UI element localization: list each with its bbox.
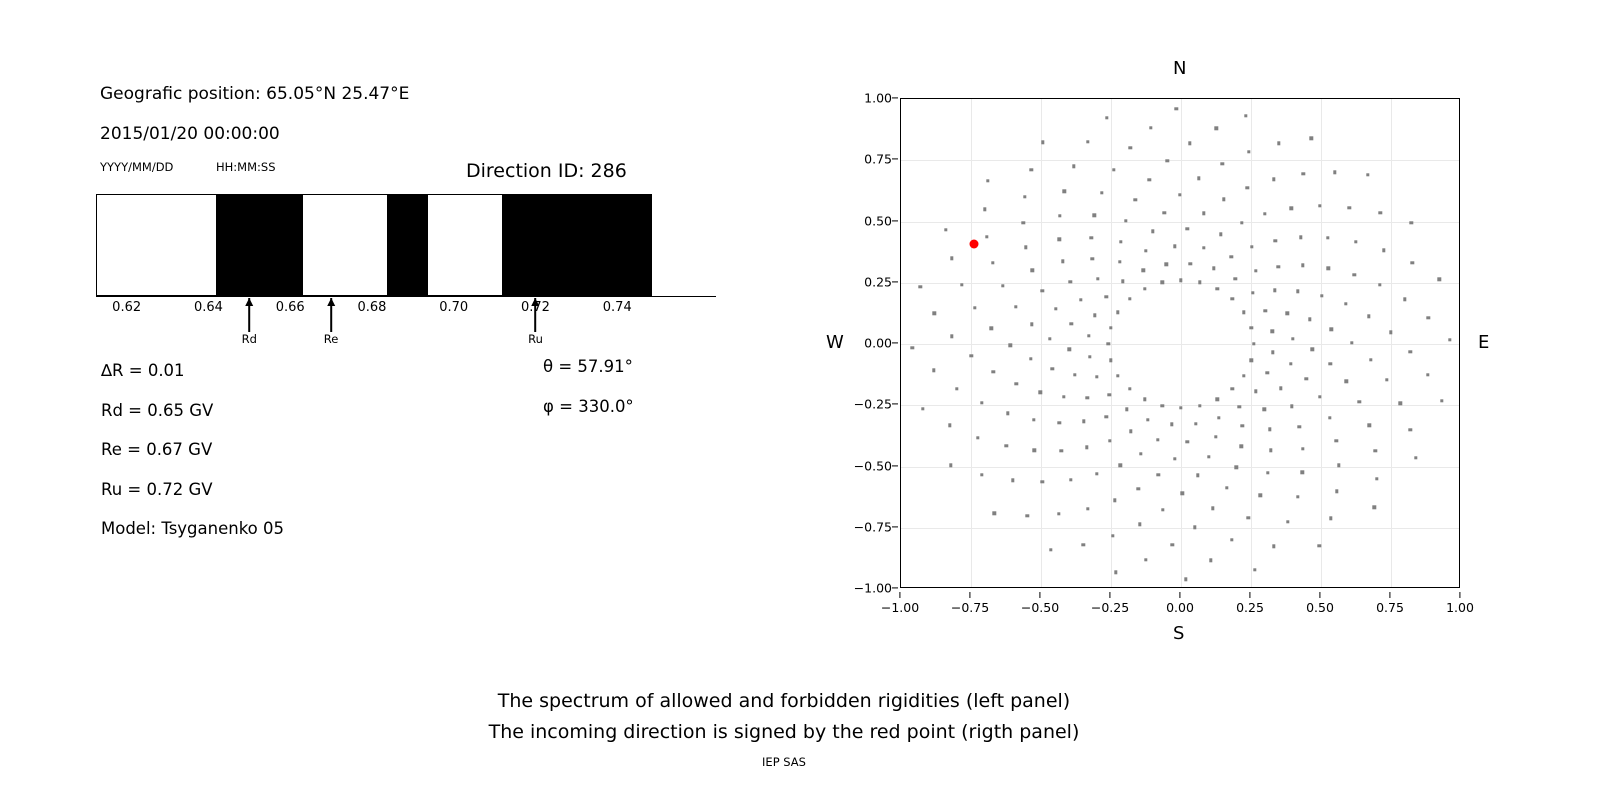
direction-dot (1091, 257, 1094, 260)
direction-dot (1049, 548, 1052, 551)
sky-map-panel: −1.00−0.75−0.50−0.250.000.250.500.751.00… (0, 0, 1600, 660)
direction-dot (1111, 534, 1114, 537)
direction-dot (1193, 526, 1196, 529)
direction-dot (932, 368, 935, 371)
direction-dot (1251, 291, 1254, 294)
direction-dot (1233, 277, 1236, 280)
gridline-vertical (1181, 99, 1182, 587)
direction-dot (1057, 238, 1060, 241)
gridline-vertical (1041, 99, 1042, 587)
sky-map-y-tick-label: −0.75 (854, 519, 892, 534)
direction-dot (1301, 264, 1304, 267)
direction-dot (1379, 211, 1382, 214)
direction-dot (1272, 545, 1275, 548)
direction-dot (1250, 245, 1253, 248)
direction-dot (1189, 262, 1192, 265)
direction-dot (911, 346, 914, 349)
direction-dot (1250, 326, 1253, 329)
direction-dot (1333, 171, 1336, 174)
direction-dot (1160, 281, 1163, 284)
sky-map-y-tick-mark (892, 159, 898, 160)
direction-dot (1279, 386, 1282, 389)
direction-dot (1157, 473, 1160, 476)
direction-dot (1119, 464, 1122, 467)
direction-dot (1252, 342, 1255, 345)
direction-dot (1160, 404, 1163, 407)
sky-map-y-tick-mark (892, 97, 898, 98)
gridline-horizontal (901, 283, 1459, 284)
direction-dot (1161, 508, 1164, 511)
direction-dot (1290, 405, 1293, 408)
sky-map-y-tick-label: 0.25 (864, 274, 892, 289)
direction-dot (1299, 236, 1302, 239)
direction-dot (1142, 268, 1145, 271)
direction-dot (1240, 221, 1243, 224)
direction-dot (1109, 326, 1112, 329)
direction-dot (1230, 538, 1233, 541)
direction-dot (1070, 322, 1073, 325)
direction-dot (1448, 338, 1451, 341)
direction-dot (1328, 416, 1331, 419)
direction-dot (1170, 543, 1173, 546)
sky-map-x-tick-label: −0.25 (1091, 600, 1129, 615)
direction-dot (1156, 438, 1159, 441)
direction-dot (1023, 195, 1026, 198)
direction-dot (1119, 240, 1122, 243)
direction-dot (1041, 289, 1044, 292)
direction-dot (1286, 520, 1289, 523)
direction-dot (1410, 221, 1413, 224)
direction-dot (949, 463, 952, 466)
direction-dot (1271, 330, 1274, 333)
direction-dot (1367, 315, 1370, 318)
direction-dot (1026, 514, 1029, 517)
direction-dot (1112, 168, 1115, 171)
gridline-vertical (971, 99, 972, 587)
direction-dot (1216, 287, 1219, 290)
direction-dot (1162, 211, 1165, 214)
direction-dot (1272, 178, 1275, 181)
sky-map-y-tick-label: 1.00 (864, 91, 892, 106)
direction-dot (1178, 193, 1181, 196)
direction-dot (1296, 495, 1299, 498)
direction-dot (1173, 244, 1176, 247)
direction-dot (921, 407, 924, 410)
direction-dot (1015, 382, 1018, 385)
gridline-horizontal (901, 160, 1459, 161)
direction-dot (948, 424, 951, 427)
direction-dot (1382, 249, 1385, 252)
direction-dot (1231, 387, 1234, 390)
direction-dot (1374, 449, 1377, 452)
direction-dot (1263, 408, 1266, 411)
direction-dot (1105, 116, 1108, 119)
sky-map-x-tick-mark (1459, 592, 1460, 598)
direction-dot (990, 327, 993, 330)
compass-label-east: E (1478, 332, 1489, 353)
sky-map-y-tick-label: −1.00 (854, 581, 892, 596)
direction-dot (1426, 373, 1429, 376)
direction-dot (1301, 471, 1304, 474)
direction-dot (1273, 289, 1276, 292)
direction-dot (1114, 571, 1117, 574)
direction-dot (1001, 284, 1004, 287)
direction-dot (1335, 490, 1338, 493)
direction-dot (955, 387, 958, 390)
sky-map-x-tick-mark (1319, 592, 1320, 598)
sky-map-y-tick-label: −0.25 (854, 397, 892, 412)
sky-map-x-tick-label: −0.50 (1021, 600, 1059, 615)
sky-map-y-tick-mark (892, 281, 898, 282)
direction-dot (1305, 377, 1308, 380)
direction-dot (1268, 427, 1271, 430)
direction-dot (1196, 474, 1199, 477)
sky-map-x-tick-mark (969, 592, 970, 598)
gridline-horizontal (901, 528, 1459, 529)
direction-dot (1184, 577, 1187, 580)
direction-dot (1198, 281, 1201, 284)
direction-dot (1230, 255, 1233, 258)
direction-dot (1290, 206, 1293, 209)
direction-dot (1369, 358, 1372, 361)
direction-dot (1286, 312, 1289, 315)
direction-dot (1186, 440, 1189, 443)
direction-dot (1108, 393, 1111, 396)
direction-dot (1087, 334, 1090, 337)
gridline-horizontal (901, 344, 1459, 345)
gridline-horizontal (901, 222, 1459, 223)
direction-dot (1214, 126, 1217, 129)
direction-dot (1211, 507, 1214, 510)
direction-dot (1060, 449, 1063, 452)
direction-dot (1067, 348, 1070, 351)
direction-dot (1082, 420, 1085, 423)
direction-dot (1409, 350, 1412, 353)
direction-dot (1220, 162, 1223, 165)
direction-dot (1082, 543, 1085, 546)
direction-dot (1095, 375, 1098, 378)
direction-dot (1170, 423, 1173, 426)
direction-dot (1326, 236, 1329, 239)
sky-map-x-tick-mark (1039, 592, 1040, 598)
direction-dot (1188, 142, 1191, 145)
direction-dot (1271, 351, 1274, 354)
direction-dot (1352, 273, 1355, 276)
direction-dot (1334, 439, 1337, 442)
sky-map-x-tick-mark (899, 592, 900, 598)
sky-map-y-tick-label: −0.50 (854, 458, 892, 473)
direction-dot (1128, 297, 1131, 300)
direction-dot (1254, 269, 1257, 272)
sky-map-y-tick-mark (892, 587, 898, 588)
direction-dot (1264, 309, 1267, 312)
direction-dot (1222, 198, 1225, 201)
sky-map-x-tick-label: 0.75 (1376, 600, 1404, 615)
direction-dot (1006, 412, 1009, 415)
direction-dot (1128, 387, 1131, 390)
direction-dot (1086, 140, 1089, 143)
direction-dot (1440, 399, 1443, 402)
direction-dot (1139, 452, 1142, 455)
direction-dot (1069, 280, 1072, 283)
direction-dot (1151, 230, 1154, 233)
direction-dot (980, 473, 983, 476)
direction-dot (1058, 214, 1061, 217)
direction-dot (1079, 298, 1082, 301)
direction-dot (993, 511, 996, 514)
direction-dot (1005, 444, 1008, 447)
direction-dot (992, 370, 995, 373)
direction-dot (1022, 221, 1025, 224)
direction-dot (1242, 310, 1245, 313)
selected-direction-point (969, 239, 978, 248)
sky-map-x-tick-label: −0.75 (951, 600, 989, 615)
direction-dot (1308, 318, 1311, 321)
direction-dot (1029, 357, 1032, 360)
direction-dot (1269, 449, 1272, 452)
direction-dot (1194, 422, 1197, 425)
direction-dot (1427, 316, 1430, 319)
direction-dot (1238, 405, 1241, 408)
direction-dot (1266, 371, 1269, 374)
sky-map-y-tick-label: 0.75 (864, 152, 892, 167)
direction-dot (1057, 512, 1060, 515)
direction-dot (1125, 408, 1128, 411)
direction-dot (1311, 348, 1314, 351)
direction-dot (1296, 289, 1299, 292)
direction-dot (1320, 294, 1323, 297)
direction-dot (1041, 480, 1044, 483)
sky-map-y-tick-label: 0.00 (864, 336, 892, 351)
sky-map-x-tick-label: 0.50 (1306, 600, 1334, 615)
sky-map-y-tick-label: 0.50 (864, 213, 892, 228)
gridline-vertical (1321, 99, 1322, 587)
direction-dot (1041, 141, 1044, 144)
direction-dot (1198, 404, 1201, 407)
direction-dot (1219, 233, 1222, 236)
direction-dot (1095, 472, 1098, 475)
direction-dot (1345, 380, 1348, 383)
direction-dot (1212, 267, 1215, 270)
direction-dot (1179, 279, 1182, 282)
gridline-vertical (1111, 99, 1112, 587)
direction-dot (1318, 395, 1321, 398)
direction-dot (1146, 418, 1149, 421)
direction-dot (1069, 478, 1072, 481)
direction-dot (1358, 400, 1361, 403)
direction-dot (1073, 373, 1076, 376)
direction-dot (1090, 236, 1093, 239)
direction-dot (1438, 277, 1441, 280)
direction-dot (1143, 287, 1146, 290)
direction-dot (1297, 425, 1300, 428)
sky-map-x-tick-label: −1.00 (881, 600, 919, 615)
direction-dot (991, 261, 994, 264)
figure-caption: The spectrum of allowed and forbidden ri… (0, 686, 1568, 748)
direction-dot (1217, 416, 1220, 419)
direction-dot (1063, 189, 1066, 192)
direction-dot (918, 285, 921, 288)
direction-dot (1329, 517, 1332, 520)
sky-map-y-tick-mark (892, 465, 898, 466)
direction-dot (933, 312, 936, 315)
direction-dot (1113, 498, 1116, 501)
direction-dot (1048, 337, 1051, 340)
direction-dot (1350, 341, 1353, 344)
sky-map-x-tick-mark (1389, 592, 1390, 598)
direction-dot (1247, 516, 1250, 519)
direction-dot (1329, 362, 1332, 365)
sky-map-x-tick-mark (1109, 592, 1110, 598)
direction-dot (1108, 439, 1111, 442)
direction-dot (1175, 107, 1178, 110)
direction-dot (1030, 168, 1033, 171)
direction-dot (1241, 424, 1244, 427)
direction-dot (1181, 492, 1184, 495)
sky-map-y-tick-mark (892, 404, 898, 405)
direction-dot (1185, 227, 1188, 230)
direction-dot (1289, 362, 1292, 365)
direction-dot (1144, 249, 1147, 252)
direction-dot (1093, 214, 1096, 217)
direction-dot (1062, 395, 1065, 398)
direction-dot (1318, 204, 1321, 207)
direction-dot (1039, 391, 1042, 394)
direction-dot (973, 306, 976, 309)
direction-dot (976, 436, 979, 439)
sky-map-y-tick-mark (892, 342, 898, 343)
direction-dot (1216, 397, 1219, 400)
direction-dot (1414, 456, 1417, 459)
direction-dot (1301, 447, 1304, 450)
direction-dot (980, 401, 983, 404)
direction-dot (1030, 323, 1033, 326)
direction-dot (1104, 295, 1107, 298)
direction-dot (1100, 191, 1103, 194)
direction-dot (1011, 479, 1014, 482)
direction-dot (1344, 302, 1347, 305)
direction-dot (1399, 402, 1402, 405)
direction-dot (1051, 367, 1054, 370)
direction-dot (1024, 246, 1027, 249)
direction-dot (1134, 198, 1137, 201)
direction-dot (1085, 446, 1088, 449)
direction-dot (1411, 261, 1414, 264)
sky-map-y-tick-mark (892, 526, 898, 527)
direction-dot (1088, 355, 1091, 358)
direction-dot (1093, 313, 1096, 316)
direction-dot (1368, 424, 1371, 427)
sky-map-x-tick-mark (1249, 592, 1250, 598)
direction-dot (1129, 430, 1132, 433)
direction-dot (1247, 150, 1250, 153)
direction-dot (1105, 415, 1108, 418)
compass-label-west: W (826, 332, 844, 353)
direction-dot (1109, 359, 1112, 362)
direction-dot (1207, 455, 1210, 458)
direction-dot (1277, 265, 1280, 268)
direction-dot (1389, 330, 1392, 333)
direction-dot (950, 257, 953, 260)
direction-dot (1106, 342, 1109, 345)
direction-dot (1096, 277, 1099, 280)
direction-dot (1378, 283, 1381, 286)
direction-dot (1348, 206, 1351, 209)
direction-dot (1225, 486, 1228, 489)
direction-dot (1137, 487, 1140, 490)
direction-dot (983, 208, 986, 211)
sky-map-y-tick-mark (892, 220, 898, 221)
direction-dot (1121, 280, 1124, 283)
sky-map-x-tick-label: 0.00 (1166, 600, 1194, 615)
sky-map-plot-area (900, 98, 1460, 588)
direction-dot (1058, 421, 1061, 424)
direction-dot (1373, 506, 1376, 509)
direction-dot (1375, 477, 1378, 480)
direction-dot (1214, 435, 1217, 438)
direction-dot (1291, 337, 1294, 340)
direction-dot (1173, 457, 1176, 460)
direction-dot (1086, 396, 1089, 399)
direction-dot (1326, 266, 1329, 269)
direction-dot (1366, 173, 1369, 176)
direction-dot (1138, 522, 1141, 525)
direction-dot (1318, 544, 1321, 547)
direction-dot (1330, 328, 1333, 331)
direction-dot (1246, 186, 1249, 189)
direction-dot (1144, 558, 1147, 561)
direction-dot (960, 283, 963, 286)
direction-dot (1009, 344, 1012, 347)
direction-dot (1116, 310, 1119, 313)
sky-map-x-tick-mark (1179, 592, 1180, 598)
direction-dot (1149, 126, 1152, 129)
direction-dot (1254, 390, 1257, 393)
direction-dot (944, 228, 947, 231)
direction-dot (1143, 397, 1146, 400)
direction-dot (1231, 297, 1234, 300)
direction-dot (986, 179, 989, 182)
compass-label-north: N (1173, 58, 1186, 79)
direction-dot (1032, 418, 1035, 421)
sky-map-x-tick-label: 0.25 (1236, 600, 1264, 615)
gridline-vertical (1391, 99, 1392, 587)
direction-dot (1259, 494, 1262, 497)
direction-dot (1128, 146, 1131, 149)
direction-dot (1274, 239, 1277, 242)
direction-dot (1179, 406, 1182, 409)
direction-dot (1337, 464, 1340, 467)
direction-dot (1242, 374, 1245, 377)
direction-dot (1086, 507, 1089, 510)
direction-dot (1014, 305, 1017, 308)
direction-dot (1266, 471, 1269, 474)
footer-credit: IEP SAS (0, 755, 1568, 769)
direction-dot (1054, 307, 1057, 310)
direction-dot (1385, 378, 1388, 381)
direction-dot (1244, 114, 1247, 117)
direction-dot (1118, 260, 1121, 263)
direction-dot (1409, 428, 1412, 431)
direction-dot (1263, 212, 1266, 215)
direction-dot (1033, 448, 1036, 451)
direction-dot (1061, 260, 1064, 263)
direction-dot (1116, 374, 1119, 377)
direction-dot (1250, 359, 1253, 362)
direction-dot (1124, 219, 1127, 222)
direction-dot (1031, 269, 1034, 272)
direction-dot (1354, 240, 1357, 243)
